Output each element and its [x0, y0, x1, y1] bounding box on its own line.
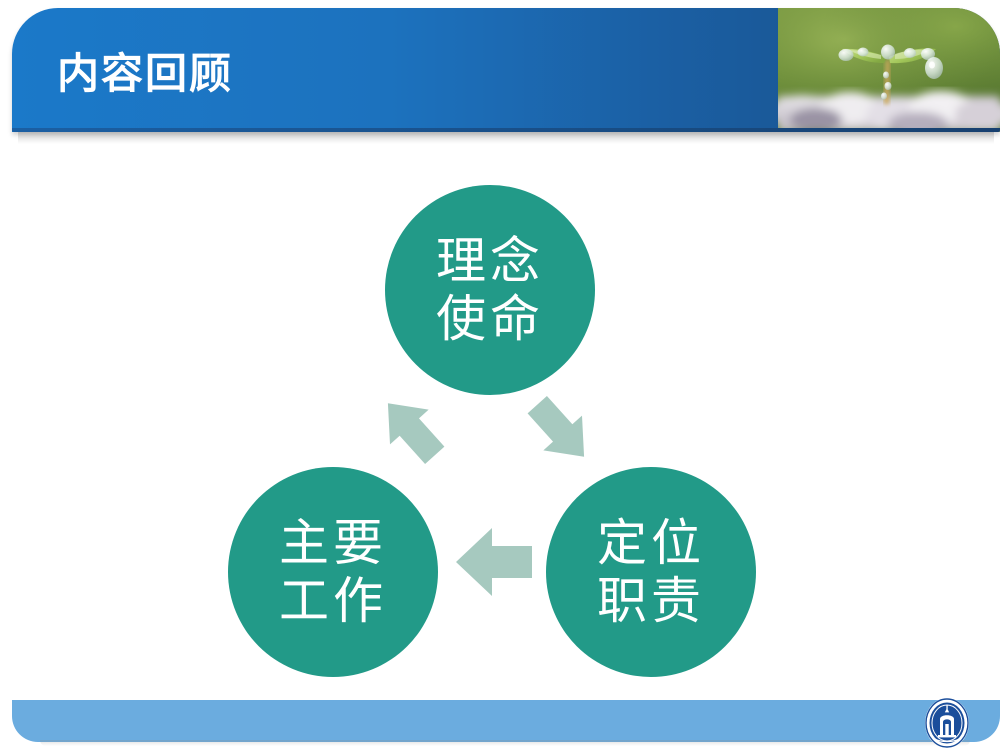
node-label-line-2: 使命: [436, 290, 544, 348]
slide-header: 内容回顾: [12, 8, 1000, 132]
seedling-with-dewdrops-photo: [778, 8, 1000, 132]
cycle-diagram: 理念 使命 定位 职责 主要 工作: [0, 150, 1000, 690]
university-emblem-logo: [923, 697, 971, 749]
node-label-line-2: 工作: [279, 572, 387, 630]
node-label-line-1: 主要: [279, 514, 387, 572]
arrow-down-right-icon: [520, 390, 600, 470]
cycle-node-main-work[interactable]: 主要 工作: [228, 467, 438, 677]
node-label-line-2: 职责: [597, 572, 705, 630]
arrow-left-icon: [452, 522, 536, 602]
node-label-line-1: 定位: [597, 514, 705, 572]
slide: 内容回顾 理念 使命 定位 职责 主要 工作: [0, 0, 1000, 750]
footer-shadow: [40, 740, 970, 746]
slide-footer: [12, 700, 1000, 742]
cycle-node-positioning-duty[interactable]: 定位 职责: [546, 467, 756, 677]
header-shadow: [18, 132, 994, 144]
cycle-node-concept-mission[interactable]: 理念 使命: [385, 185, 595, 395]
node-label-line-1: 理念: [436, 232, 544, 290]
arrow-up-right-icon: [372, 390, 452, 470]
page-title: 内容回顾: [57, 48, 233, 100]
